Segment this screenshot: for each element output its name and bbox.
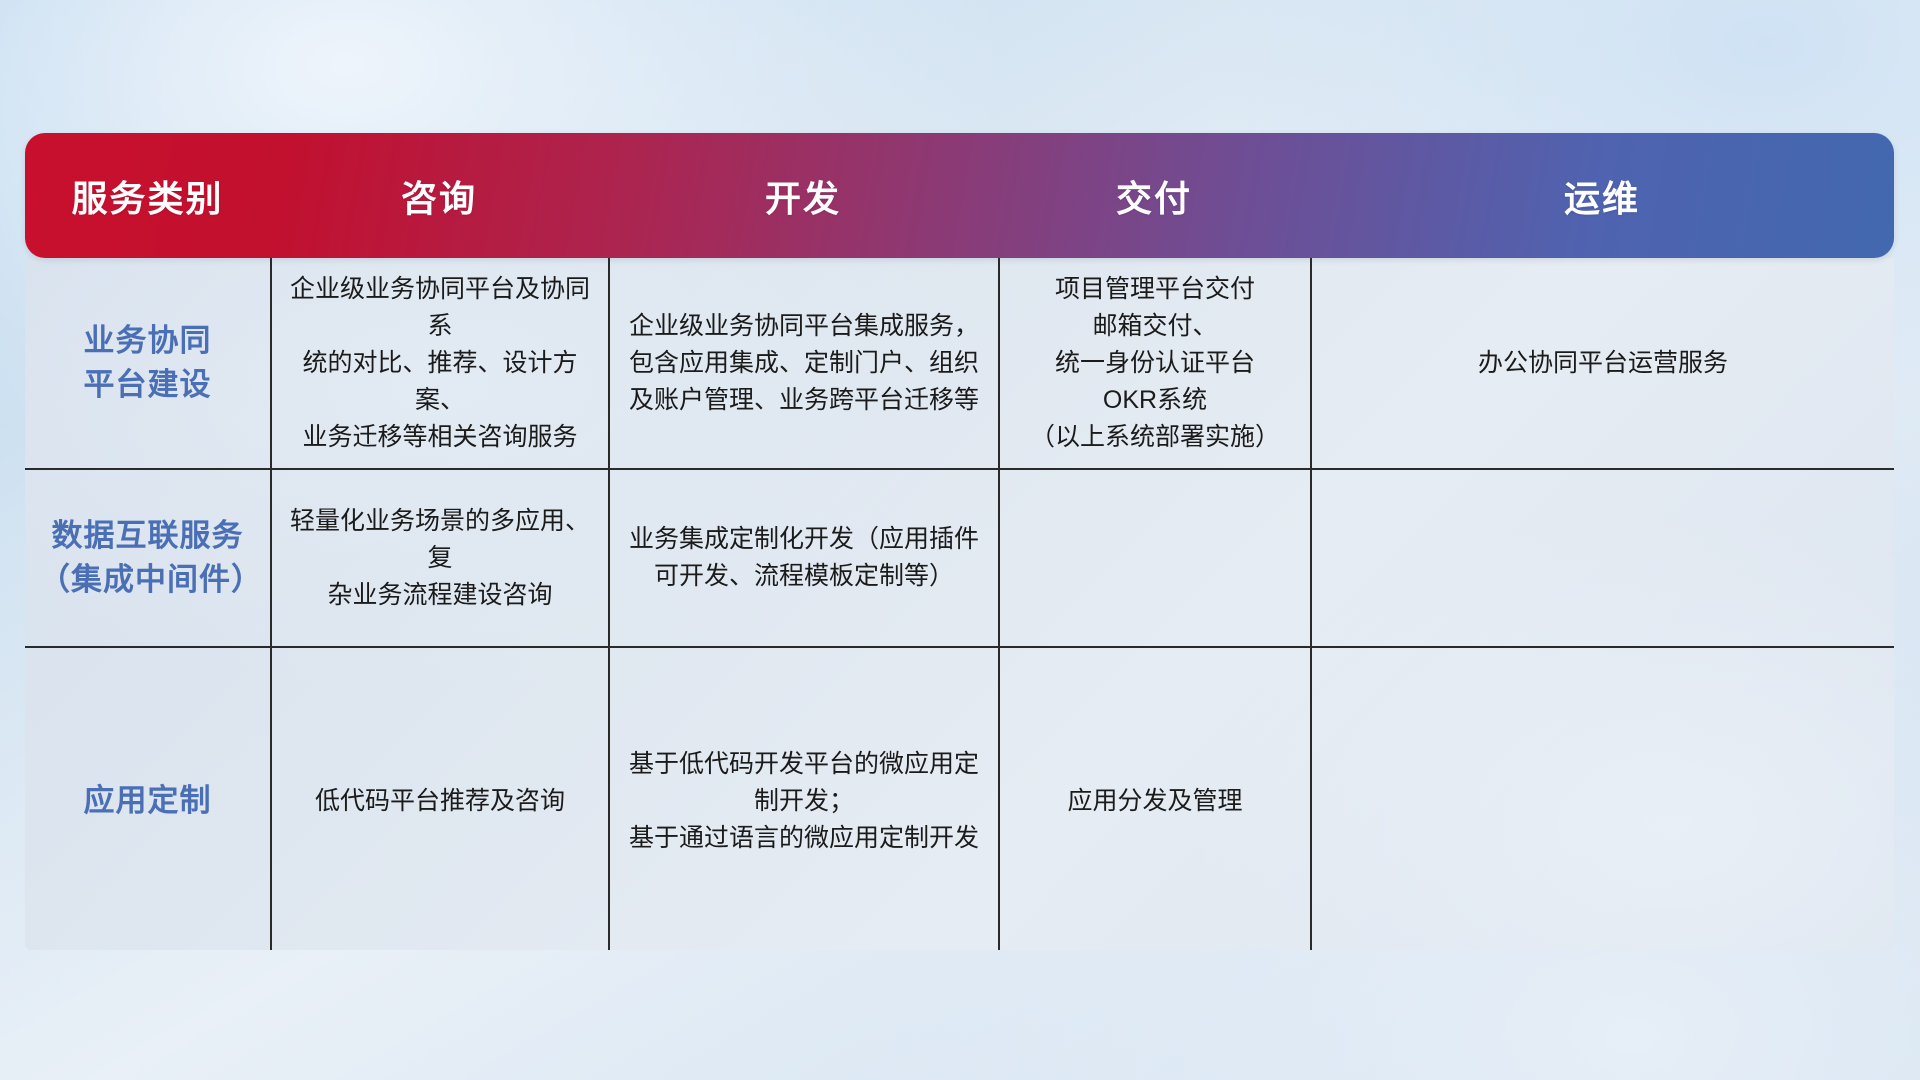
table-row: 业务协同 平台建设 企业级业务协同平台及协同系 统的对比、推荐、设计方案、 业务… — [25, 258, 1894, 470]
cell-operations: 办公协同平台运营服务 — [1310, 258, 1894, 468]
row-category-cell: 数据互联服务 （集成中间件） — [25, 470, 270, 646]
row-category-label: 数据互联服务 （集成中间件） — [39, 514, 256, 602]
column-header-consulting: 咨询 — [270, 133, 608, 258]
cell-development: 基于低代码开发平台的微应用定 制开发； 基于通过语言的微应用定制开发 — [608, 648, 998, 950]
cell-delivery: 项目管理平台交付 邮箱交付、 统一身份认证平台 OKR系统 （以上系统部署实施） — [998, 258, 1310, 468]
cell-text: 低代码平台推荐及咨询 — [315, 783, 565, 820]
cell-text: 企业级业务协同平台集成服务， 包含应用集成、定制门户、组织 及账户管理、业务跨平… — [629, 308, 979, 419]
column-header-operations: 运维 — [1310, 133, 1894, 258]
table-row: 应用定制 低代码平台推荐及咨询 基于低代码开发平台的微应用定 制开发； 基于通过… — [25, 648, 1894, 950]
cell-text: 轻量化业务场景的多应用、复 杂业务流程建设咨询 — [286, 503, 594, 614]
cell-text: 应用分发及管理 — [1067, 783, 1242, 820]
row-category-label: 业务协同 平台建设 — [84, 319, 212, 407]
table-body: 业务协同 平台建设 企业级业务协同平台及协同系 统的对比、推荐、设计方案、 业务… — [25, 258, 1894, 950]
cell-text: 企业级业务协同平台及协同系 统的对比、推荐、设计方案、 业务迁移等相关咨询服务 — [286, 271, 594, 456]
cell-consulting: 企业级业务协同平台及协同系 统的对比、推荐、设计方案、 业务迁移等相关咨询服务 — [270, 258, 608, 468]
cell-operations — [1310, 648, 1894, 950]
column-header-development: 开发 — [608, 133, 998, 258]
cell-text: 项目管理平台交付 邮箱交付、 统一身份认证平台 OKR系统 （以上系统部署实施） — [1030, 271, 1280, 456]
table-row: 数据互联服务 （集成中间件） 轻量化业务场景的多应用、复 杂业务流程建设咨询 业… — [25, 470, 1894, 648]
row-category-cell: 业务协同 平台建设 — [25, 258, 270, 468]
cell-delivery: 应用分发及管理 — [998, 648, 1310, 950]
cell-text: 基于低代码开发平台的微应用定 制开发； 基于通过语言的微应用定制开发 — [629, 746, 979, 857]
row-category-label: 应用定制 — [84, 779, 212, 823]
column-header-delivery: 交付 — [998, 133, 1310, 258]
cell-delivery — [998, 470, 1310, 646]
cell-text: 办公协同平台运营服务 — [1478, 345, 1728, 382]
column-header-category: 服务类别 — [25, 133, 270, 258]
service-matrix-table: 服务类别 咨询 开发 交付 运维 业务协同 平台建设 企业级业务协同平台及协同系… — [25, 133, 1894, 950]
cell-operations — [1310, 470, 1894, 646]
slide-canvas: 服务类别 咨询 开发 交付 运维 业务协同 平台建设 企业级业务协同平台及协同系… — [0, 0, 1920, 1080]
row-category-cell: 应用定制 — [25, 648, 270, 950]
cell-development: 企业级业务协同平台集成服务， 包含应用集成、定制门户、组织 及账户管理、业务跨平… — [608, 258, 998, 468]
cell-consulting: 低代码平台推荐及咨询 — [270, 648, 608, 950]
cell-consulting: 轻量化业务场景的多应用、复 杂业务流程建设咨询 — [270, 470, 608, 646]
cell-text: 业务集成定制化开发（应用插件 可开发、流程模板定制等） — [629, 521, 979, 595]
cell-development: 业务集成定制化开发（应用插件 可开发、流程模板定制等） — [608, 470, 998, 646]
table-header-row: 服务类别 咨询 开发 交付 运维 — [25, 133, 1894, 258]
